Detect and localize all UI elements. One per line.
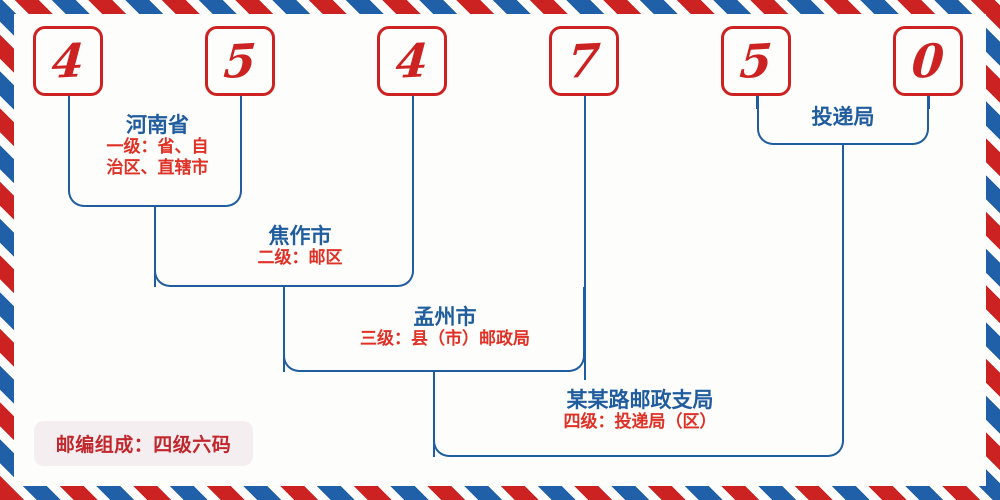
digit-card-6[interactable]: 0 bbox=[893, 26, 963, 96]
digit-card-5[interactable]: 5 bbox=[721, 26, 791, 96]
bracket-level-3 bbox=[283, 287, 585, 372]
legend-badge-text: 邮编组成：四级六码 bbox=[56, 430, 232, 457]
diagram-canvas: 4 5 4 7 5 0 投递局 河南省 一级：省、自 治区、直辖市 焦作 bbox=[0, 0, 1000, 500]
riser-digit-3 bbox=[412, 95, 415, 215]
riser-digit-5 bbox=[756, 95, 759, 109]
bracket-level-2 bbox=[154, 207, 414, 287]
digit-glyph-2: 5 bbox=[222, 37, 257, 85]
digit-glyph-6: 0 bbox=[910, 37, 945, 85]
digit-glyph-4: 7 bbox=[566, 37, 601, 85]
bracket-level-4 bbox=[433, 372, 844, 457]
bracket-level-1 bbox=[68, 92, 242, 207]
stem-delivery-office bbox=[842, 145, 845, 373]
riser-digit-2 bbox=[240, 95, 243, 109]
digit-card-3[interactable]: 4 bbox=[377, 26, 447, 96]
legend-badge: 邮编组成：四级六码 bbox=[34, 421, 253, 466]
digit-glyph-5: 5 bbox=[738, 37, 773, 85]
bracket-delivery-office bbox=[757, 92, 929, 145]
digit-glyph-3: 4 bbox=[394, 37, 429, 85]
riser-digit-6 bbox=[928, 95, 931, 109]
digit-card-4[interactable]: 7 bbox=[549, 26, 619, 96]
postcode-infographic: 4 5 4 7 5 0 投递局 河南省 一级：省、自 治区、直辖市 焦作 bbox=[0, 0, 1000, 500]
digit-card-1[interactable]: 4 bbox=[33, 26, 103, 96]
riser-digit-1 bbox=[68, 95, 71, 109]
digit-glyph-1: 4 bbox=[50, 37, 85, 85]
riser-digit-4 bbox=[584, 95, 587, 380]
digit-card-2[interactable]: 5 bbox=[205, 26, 275, 96]
